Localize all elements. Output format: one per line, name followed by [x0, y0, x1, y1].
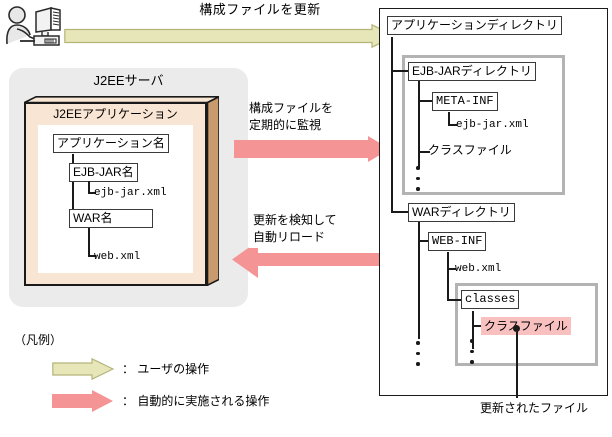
legend-yellow-arrow-icon: [52, 358, 114, 380]
j2ee-server-title: J2EEサーバ: [9, 72, 248, 90]
leaf-web-xml: web.xml: [94, 250, 140, 264]
node-application-directory: アプリケーションディレクトリ: [387, 16, 562, 35]
node-application-name-label: アプリケーション名: [54, 135, 168, 152]
node-meta-inf-label: META-INF: [433, 93, 497, 110]
tree-branch-meta-inf: [418, 100, 433, 102]
node-war-directory-label: WARディレクトリ: [409, 204, 514, 221]
node-ejb-jar-directory-label: EJB-JARディレクトリ: [409, 63, 535, 80]
monitor-label: 構成ファイルを 定期的に監視: [249, 100, 333, 134]
node-web-inf: WEB-INF: [428, 232, 486, 251]
tree-branch-classes: [447, 299, 462, 301]
j2ee-application-title: J2EEアプリケーション: [26, 106, 205, 123]
auto-action-arrow-right: [234, 136, 390, 162]
tree-trunk-webinf: [447, 252, 449, 300]
top-arrow-label: 構成ファイルを更新: [150, 2, 370, 18]
node-class-file-updated: クラスファイル: [481, 317, 571, 335]
callout-leader-line: [516, 330, 518, 398]
legend-title: （凡例）: [14, 332, 62, 348]
ellipsis-dots-classes: [470, 339, 474, 371]
tree-trunk-right: [391, 37, 393, 213]
leaf-ejb-jar-xml: ejb-jar.xml: [94, 186, 167, 200]
ellipsis-dots-war: [416, 341, 420, 373]
legend-pink-arrow-icon: [52, 390, 114, 412]
ellipsis-dots-ejb: [416, 166, 420, 198]
node-classes-label: classes: [462, 291, 518, 308]
node-web-inf-label: WEB-INF: [429, 233, 485, 250]
callout-label: 更新されたファイル: [480, 400, 588, 416]
node-war-directory: WARディレクトリ: [408, 203, 515, 222]
leaf-web-xml-right: web.xml: [455, 262, 501, 276]
legend-text-auto-action: ： 自動的に実施される操作: [122, 392, 269, 410]
node-war-name: WAR名: [69, 209, 153, 228]
leaf-class-file-ejb: クラスファイル: [428, 143, 512, 157]
node-war-name-label: WAR名: [70, 210, 152, 227]
node-ejb-jar-directory: EJB-JARディレクトリ: [408, 62, 536, 81]
reload-label: 更新を検知して 自動リロード: [249, 210, 341, 248]
user-at-computer-icon: [4, 4, 64, 48]
node-application-directory-label: アプリケーションディレクトリ: [388, 17, 561, 34]
tree-branch-war-directory: [391, 211, 409, 213]
tree-branch-ejb-directory: [391, 70, 409, 72]
node-classes: classes: [461, 290, 519, 309]
tree-trunk-ejb-sub: [418, 81, 420, 169]
user-action-arrow: [64, 24, 396, 48]
tree-trunk-warname: [88, 228, 90, 256]
node-meta-inf: META-INF: [432, 92, 498, 111]
node-application-name: アプリケーション名: [53, 134, 169, 153]
node-ejb-jar-name-label: EJB-JAR名: [70, 164, 137, 181]
legend-text-user-action: ： ユーザの操作: [122, 360, 209, 378]
node-ejb-jar-name: EJB-JAR名: [69, 163, 138, 182]
leaf-ejb-jar-xml-right: ejb-jar.xml: [456, 118, 529, 132]
